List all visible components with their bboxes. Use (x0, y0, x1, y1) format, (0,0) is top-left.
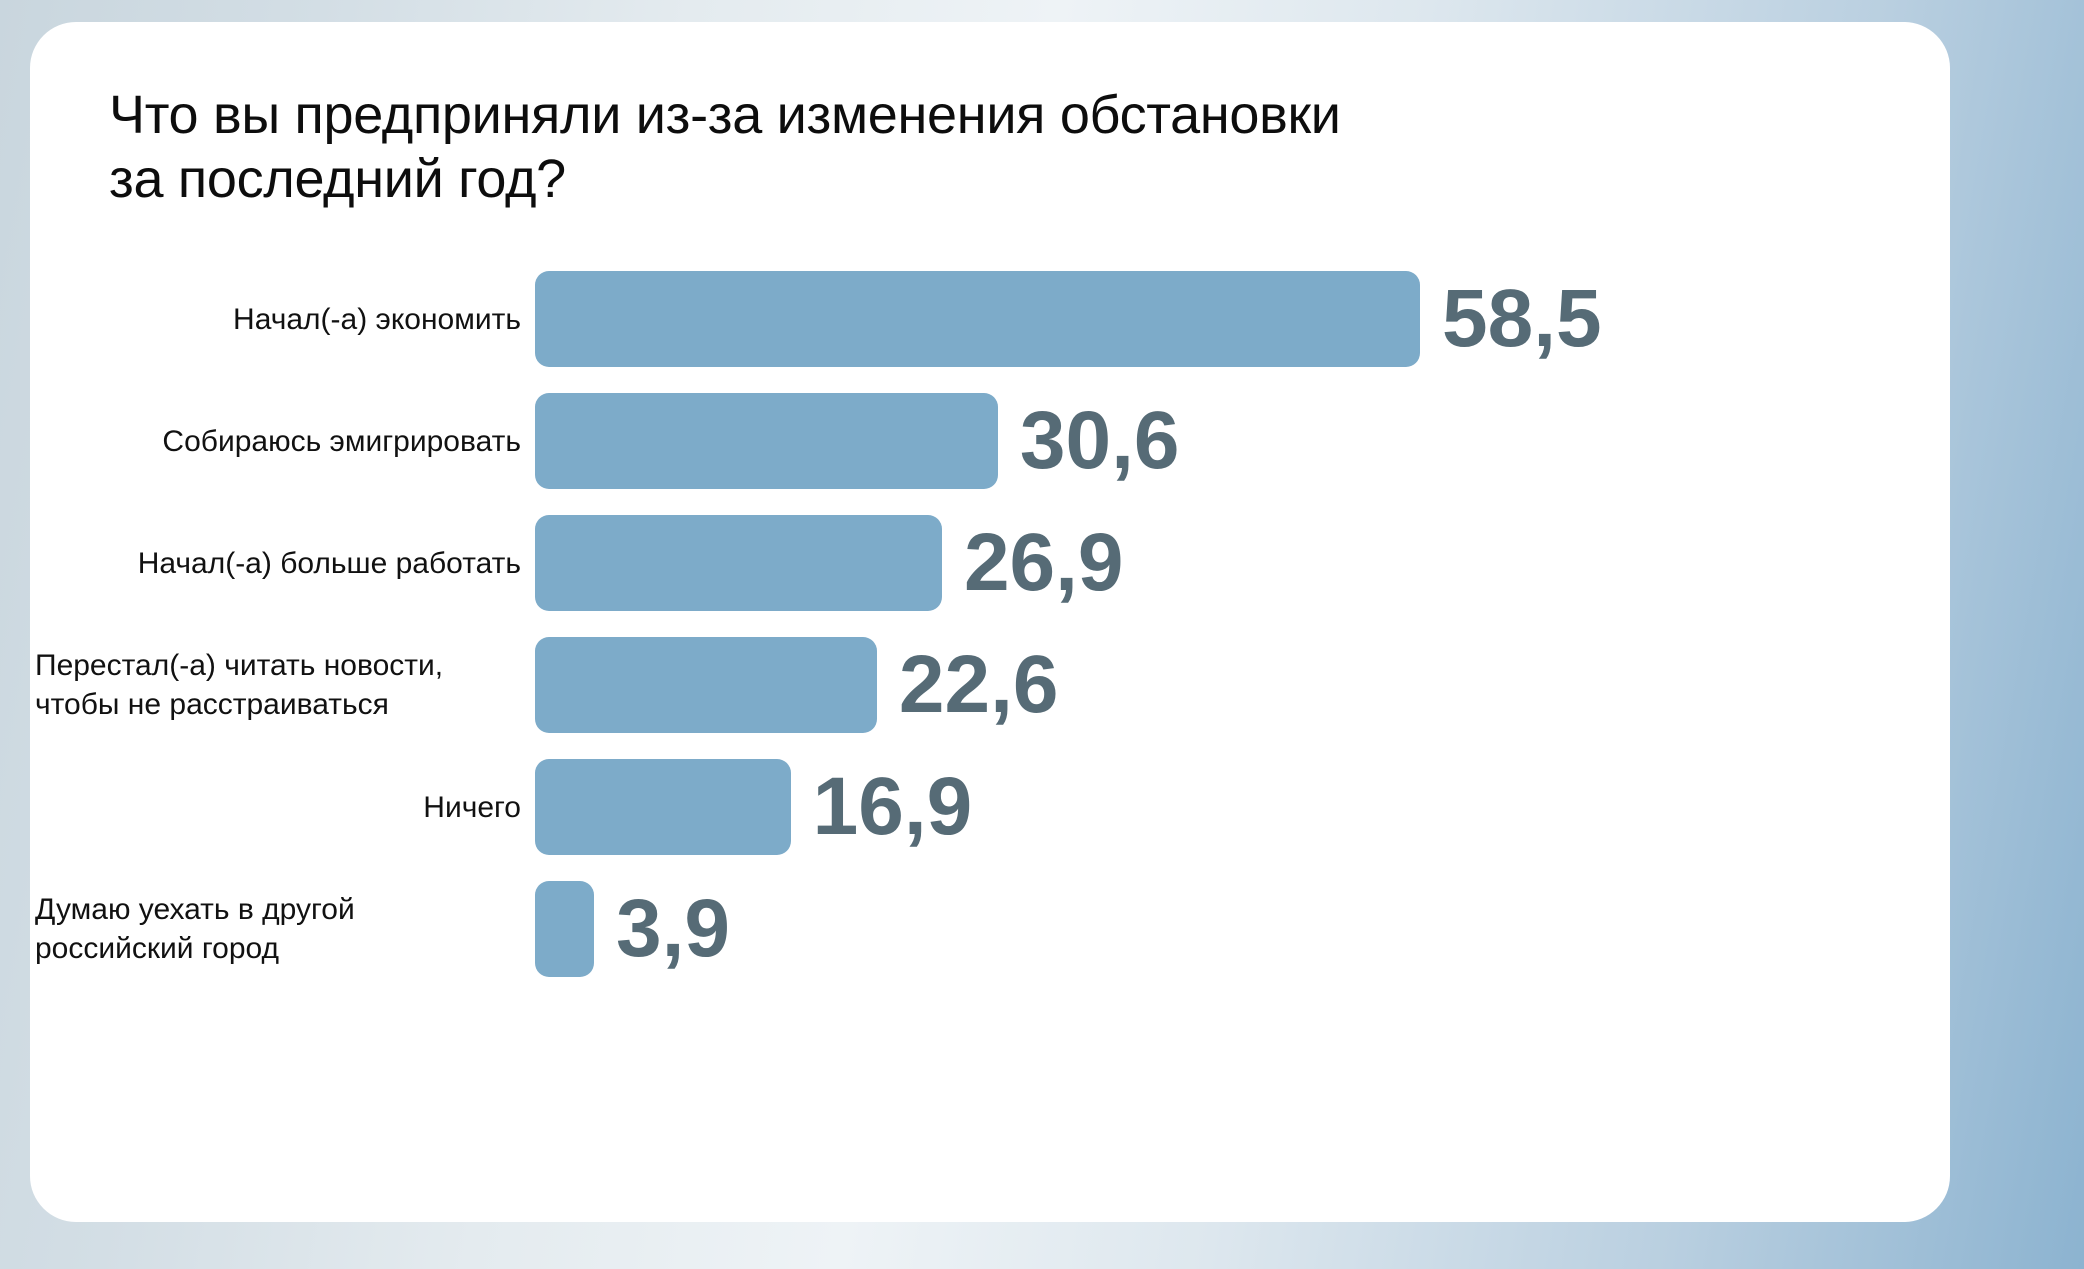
bar-track: 58,5 (535, 258, 1950, 380)
bar-track: 3,9 (535, 868, 1950, 990)
chart-card: Что вы предприняли из-за изменения обста… (30, 22, 1950, 1222)
bar-category-label: Ничего (30, 788, 535, 827)
bar[interactable] (535, 637, 877, 733)
chart-row: Собираюсь эмигрировать30,6 (30, 380, 1950, 502)
bar-category-label: Начал(-а) больше работать (30, 544, 535, 583)
bar-category-label: Думаю уехать в другой российский город (30, 890, 535, 968)
chart-row: Начал(-а) больше работать26,9 (30, 502, 1950, 624)
bar[interactable] (535, 393, 998, 489)
bar[interactable] (535, 515, 942, 611)
bar-chart: Начал(-а) экономить58,5Собираюсь эмигрир… (30, 258, 1950, 990)
chart-row: Думаю уехать в другой российский город3,… (30, 868, 1950, 990)
bar-value-label: 30,6 (1020, 400, 1180, 482)
page-background: Что вы предприняли из-за изменения обста… (0, 0, 2084, 1269)
bar-category-label: Начал(-а) экономить (30, 300, 535, 339)
bar-value-label: 16,9 (813, 766, 973, 848)
chart-row: Ничего16,9 (30, 746, 1950, 868)
bar-track: 22,6 (535, 624, 1950, 746)
bar-track: 30,6 (535, 380, 1950, 502)
bar[interactable] (535, 271, 1420, 367)
bar-category-label: Перестал(-а) читать новости, чтобы не ра… (30, 646, 535, 724)
chart-row: Начал(-а) экономить58,5 (30, 258, 1950, 380)
bar-value-label: 58,5 (1442, 278, 1602, 360)
page-title: Что вы предприняли из-за изменения обста… (109, 84, 1609, 211)
bar-value-label: 26,9 (964, 522, 1124, 604)
bar-track: 26,9 (535, 502, 1950, 624)
bar[interactable] (535, 759, 791, 855)
bar-category-label: Собираюсь эмигрировать (30, 422, 535, 461)
bar-value-label: 3,9 (616, 888, 730, 970)
chart-row: Перестал(-а) читать новости, чтобы не ра… (30, 624, 1950, 746)
bar-value-label: 22,6 (899, 644, 1059, 726)
bar[interactable] (535, 881, 594, 977)
bar-track: 16,9 (535, 746, 1950, 868)
